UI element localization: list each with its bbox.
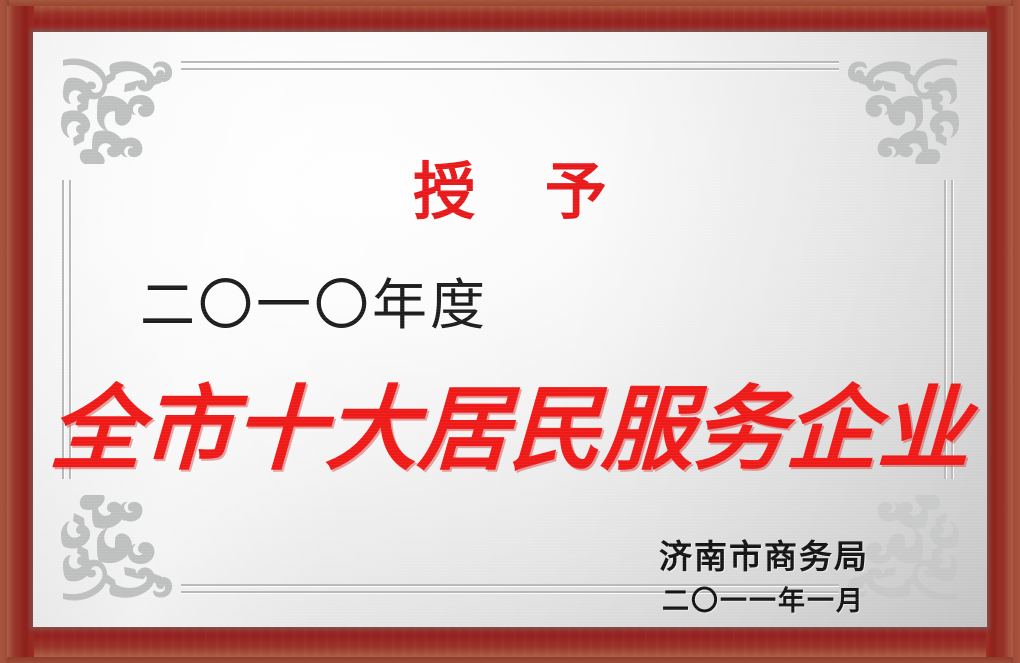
metal-plate: 授 予 二〇一〇年度 全市十大居民服务企业 济南市商务局 二〇一一年一月 <box>33 32 987 627</box>
border-rule-top-inner <box>181 68 839 70</box>
award-title-text: 全市十大居民服务企业 <box>33 355 987 488</box>
award-year-text: 二〇一〇年度 <box>140 260 488 340</box>
award-plaque: 授 予 二〇一〇年度 全市十大居民服务企业 济南市商务局 二〇一一年一月 <box>0 0 1020 663</box>
frame-rail-right <box>986 6 1013 657</box>
issue-date-text: 二〇一一年一月 <box>662 579 865 618</box>
award-verb-text: 授 予 <box>33 141 987 231</box>
border-rule-top-outer <box>181 61 839 63</box>
frame-rail-bottom <box>7 627 1013 657</box>
plaque-text-block: 授 予 二〇一〇年度 全市十大居民服务企业 济南市商务局 二〇一一年一月 <box>33 32 987 627</box>
corner-flourish-icon-bottom-left <box>55 495 173 605</box>
issuing-authority-text: 济南市商务局 <box>659 530 869 578</box>
